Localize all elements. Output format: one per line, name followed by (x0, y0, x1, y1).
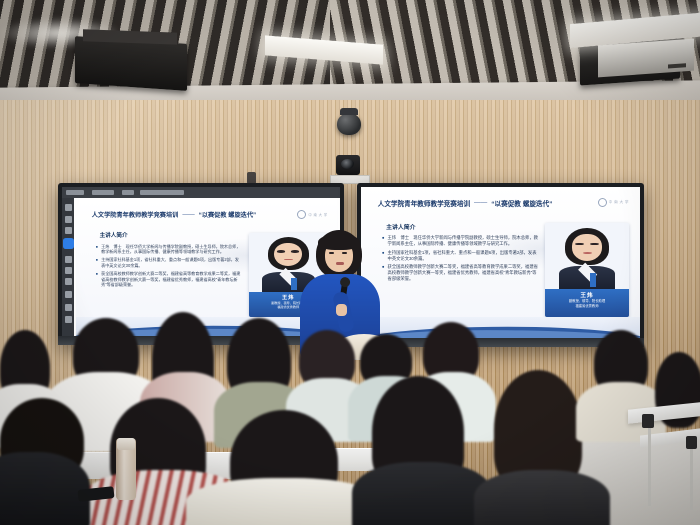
speaker-photo (545, 223, 629, 289)
slide-section-heading: 主讲人简介 (100, 231, 128, 239)
slide-bullet: ● 主持国家社科基金1项，省社科重大、重点和一般课题6项，出版专著2部，发表中英… (96, 257, 243, 269)
whiteboard-toolbar[interactable] (62, 198, 74, 336)
slide-bullet: ● 王炜 博士 现任华侨大学新闻与传播学院副教授，硕士生导师，院木总师，教学新闻… (96, 244, 243, 256)
shape-tool-icon[interactable] (65, 216, 72, 223)
slide-bullet-text: 主持国家社科基金1项，省社科重大、重点和一般课题6项，出版专著2部，发表中英文论… (388, 250, 539, 262)
undo-tool-icon[interactable] (65, 304, 72, 311)
slide-header: 人文学院青年教师教学竞赛培训 —— “以赛促教 螺旋迭代” 中 南 大 学 (378, 198, 629, 208)
dome-camera (337, 113, 361, 135)
speaker-photo-lanyard (590, 273, 596, 287)
speaker-photo-eye-left (277, 250, 285, 252)
university-logo-mark (297, 210, 306, 219)
slide-bullet: ● 王炜 博士 现任华侨大学新闻与传播学院副教授，硕士生导师，院木总师，教学新闻… (382, 235, 538, 247)
bullet-marker-icon: ● (96, 271, 98, 288)
presenter-mouth (336, 262, 344, 265)
text-tool-icon[interactable] (65, 267, 72, 274)
whiteboard-app-menubar[interactable] (62, 187, 340, 198)
slide-title-dash: —— (474, 199, 487, 206)
slide-body-left: ● 王炜 博士 现任华侨大学新闻与传播学院副教授，硕士生导师，院木总师，教学新闻… (96, 244, 243, 291)
slide-title-dash: —— (182, 211, 194, 218)
select-tool-icon[interactable] (65, 204, 72, 211)
slide-title-quote: “以赛促教 螺旋迭代” (199, 210, 256, 219)
attendee-body (352, 462, 492, 525)
right-display-screen: 人文学院青年教师教学竞赛培训 —— “以赛促教 螺旋迭代” 中 南 大 学 主讲… (361, 187, 640, 338)
slide-title: 人文学院青年教师教学竞赛培训 (92, 210, 179, 219)
slide-bullet-text: 王炜 博士 现任华侨大学新闻与传播学院副教授，硕士生导师，院木总师，教学新闻系主… (101, 244, 242, 256)
ptz-camera (336, 155, 360, 175)
speaker-photo-mouth (583, 252, 592, 254)
presenter-eye-left (329, 252, 334, 254)
menu-item-edit[interactable] (92, 190, 114, 195)
lecture-hall-photo: 人文学院青年教师教学竞赛培训 —— “以赛促教 螺旋迭代” 中 南 大 学 主讲… (0, 0, 700, 525)
attendee-body (474, 470, 610, 525)
slide-right: 人文学院青年教师教学竞赛培训 —— “以赛促教 螺旋迭代” 中 南 大 学 主讲… (361, 187, 640, 338)
presenter-eye-right (342, 252, 347, 254)
slide-title: 人文学院青年教师教学竞赛培训 (378, 198, 470, 208)
slide-bullet-text: 获全国高校教师教学创新大赛二等奖，福建省高等教育教学成果二等奖，福建省高校教师教… (101, 271, 242, 288)
slide-bullet: ● 获全国高校教师教学创新大赛二等奖，福建省高等教育教学成果二等奖，福建省高校教… (382, 264, 538, 282)
university-logo-mark (598, 198, 607, 207)
right-display[interactable]: 人文学院青年教师教学竞赛培训 —— “以赛促教 螺旋迭代” 中 南 大 学 主讲… (357, 183, 644, 347)
thermos-bottle (116, 438, 136, 500)
presenter-hand (336, 304, 347, 316)
speaker-photo-face (572, 234, 602, 260)
slide-header: 人文学院青年教师教学竞赛培训 —— “以赛促教 螺旋迭代” 中 南 大 学 (92, 210, 328, 219)
podium-clamp (686, 436, 697, 449)
bullet-marker-icon: ● (96, 257, 98, 269)
ceiling-light-panel (598, 39, 694, 78)
slide-bullet-text: 获全国高校教师教学创新大赛二等奖，福建省高等教育教学成果二等奖，福建省高校教师教… (388, 264, 539, 282)
ceiling-projector-left (75, 36, 187, 91)
attendee-body (0, 452, 90, 525)
university-logo: 中 南 大 学 (598, 198, 629, 207)
slide-section-heading: 主讲人简介 (386, 222, 415, 231)
university-logo-text: 中 南 大 学 (308, 212, 327, 217)
podium-leg (648, 418, 651, 506)
pen-tool-icon[interactable] (65, 240, 72, 247)
menu-item-view[interactable] (122, 190, 134, 195)
podium-leg (690, 440, 693, 510)
laser-tool-icon[interactable] (65, 278, 72, 285)
page-tool-icon[interactable] (65, 291, 72, 298)
slide-bullet-text: 主持国家社科基金1项，省社科重大、重点和一般课题6项，出版专著2部，发表中英文论… (101, 257, 242, 269)
more-tools-icon[interactable] (65, 316, 72, 323)
bullet-marker-icon: ● (96, 244, 98, 256)
slide-wave-decoration (361, 317, 640, 338)
university-logo: 中 南 大 学 (297, 210, 327, 219)
presenter-fringe (318, 234, 360, 250)
speaker-role-line-2: 福建省优秀教师 (545, 304, 629, 308)
slide-bullet: ● 主持国家社科基金1项，省社科重大、重点和一般课题6项，出版专著2部，发表中英… (382, 250, 538, 262)
slide-body-right: ● 王炜 博士 现任华侨大学新闻与传播学院副教授，硕士生导师，院木总师，教学新闻… (382, 235, 538, 284)
speaker-portrait-card: 王炜 副教授、硕导、院长助理 福建省优秀教师 (545, 223, 629, 317)
menu-item-file[interactable] (66, 190, 84, 195)
podium-clamp (642, 414, 654, 428)
menu-item-toolbar-options[interactable] (140, 190, 184, 195)
eraser-tool-icon[interactable] (65, 256, 72, 263)
image-tool-icon[interactable] (65, 227, 72, 234)
slide-title-quote: “以赛促教 螺旋迭代” (491, 198, 552, 208)
speaker-name-bar: 王炜 副教授、硕导、院长助理 福建省优秀教师 (545, 289, 629, 317)
slide-bullet-text: 王炜 博士 现任华侨大学新闻与传播学院副教授，硕士生导师，院木总师，教学新闻系主… (388, 235, 539, 247)
university-logo-text: 中 南 大 学 (609, 200, 629, 205)
slide-bullet: ● 获全国高校教师教学创新大赛二等奖，福建省高等教育教学成果二等奖，福建省高校教… (96, 271, 243, 288)
